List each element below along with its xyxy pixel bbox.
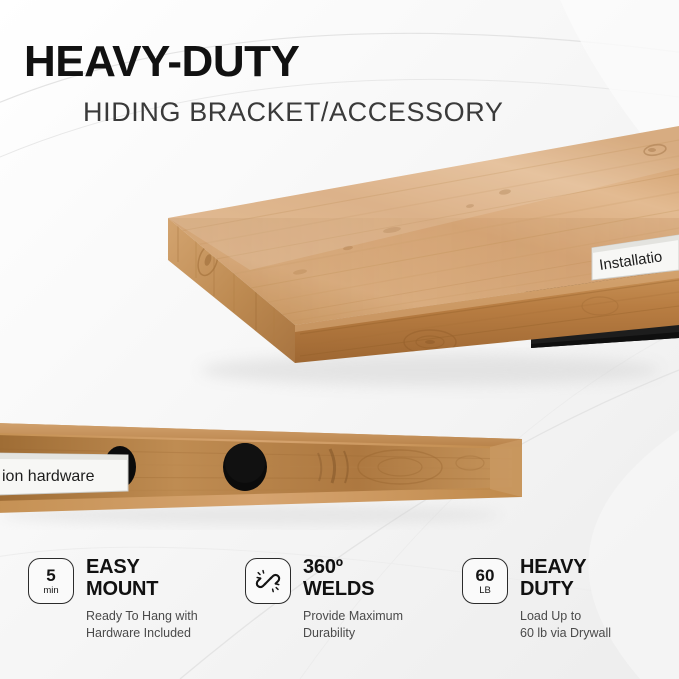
lower-product-shot: ion hardware <box>0 405 679 530</box>
badge-value: 5 <box>46 567 55 584</box>
feature-heading: HEAVY DUTY <box>520 556 586 601</box>
feature-subtext: Ready To Hang with Hardware Included <box>86 608 198 641</box>
feature-heading-line1: HEAVY <box>520 556 586 578</box>
feature-heading: EASY MOUNT <box>86 556 158 601</box>
feature-heading-line1: 360º <box>303 556 374 578</box>
feature-subtext: Load Up to 60 lb via Drywall <box>520 608 611 641</box>
hero-product-shot: Installatio <box>0 120 679 410</box>
feature-subtext-line2: 60 lb via Drywall <box>520 625 611 642</box>
feature-heading: 360º WELDS <box>303 556 374 601</box>
feature-subtext: Provide Maximum Durability <box>303 608 403 641</box>
five-min-badge: 5 min <box>28 558 74 604</box>
badge-unit: min <box>43 586 58 596</box>
badge-value: 60 <box>476 567 495 584</box>
feature-heading-line1: EASY <box>86 556 158 578</box>
feature-subtext-line2: Hardware Included <box>86 625 198 642</box>
feature-heading-line2: WELDS <box>303 578 374 600</box>
sixty-lb-badge: 60 LB <box>462 558 508 604</box>
feature-easy-mount: 5 min EASY MOUNT Ready To Hang with Hard… <box>28 548 243 668</box>
feature-subtext-line1: Load Up to <box>520 608 611 625</box>
badge-unit: LB <box>479 586 491 596</box>
header: HEAVY-DUTY HIDING BRACKET/ACCESSORY <box>0 0 679 140</box>
feature-subtext-line1: Ready To Hang with <box>86 608 198 625</box>
feature-subtext-line2: Durability <box>303 625 403 642</box>
feature-highlights-row: 5 min EASY MOUNT Ready To Hang with Hard… <box>0 548 679 668</box>
chain-link-weld-icon <box>254 567 282 595</box>
lower-shelf-instruction-label: ion hardware <box>0 453 128 495</box>
feature-heading-line2: MOUNT <box>86 578 158 600</box>
feature-360-welds: 360º WELDS Provide Maximum Durability <box>245 548 460 668</box>
product-image-canvas: HEAVY-DUTY HIDING BRACKET/ACCESSORY <box>0 0 679 679</box>
lower-shelf-label-text: ion hardware <box>2 468 95 485</box>
feature-subtext-line1: Provide Maximum <box>303 608 403 625</box>
feature-heavy-duty: 60 LB HEAVY DUTY Load Up to 60 lb via Dr… <box>462 548 677 668</box>
page-title: HEAVY-DUTY <box>24 40 299 84</box>
feature-heading-line2: DUTY <box>520 578 586 600</box>
chain-link-weld-icon-badge <box>245 558 291 604</box>
